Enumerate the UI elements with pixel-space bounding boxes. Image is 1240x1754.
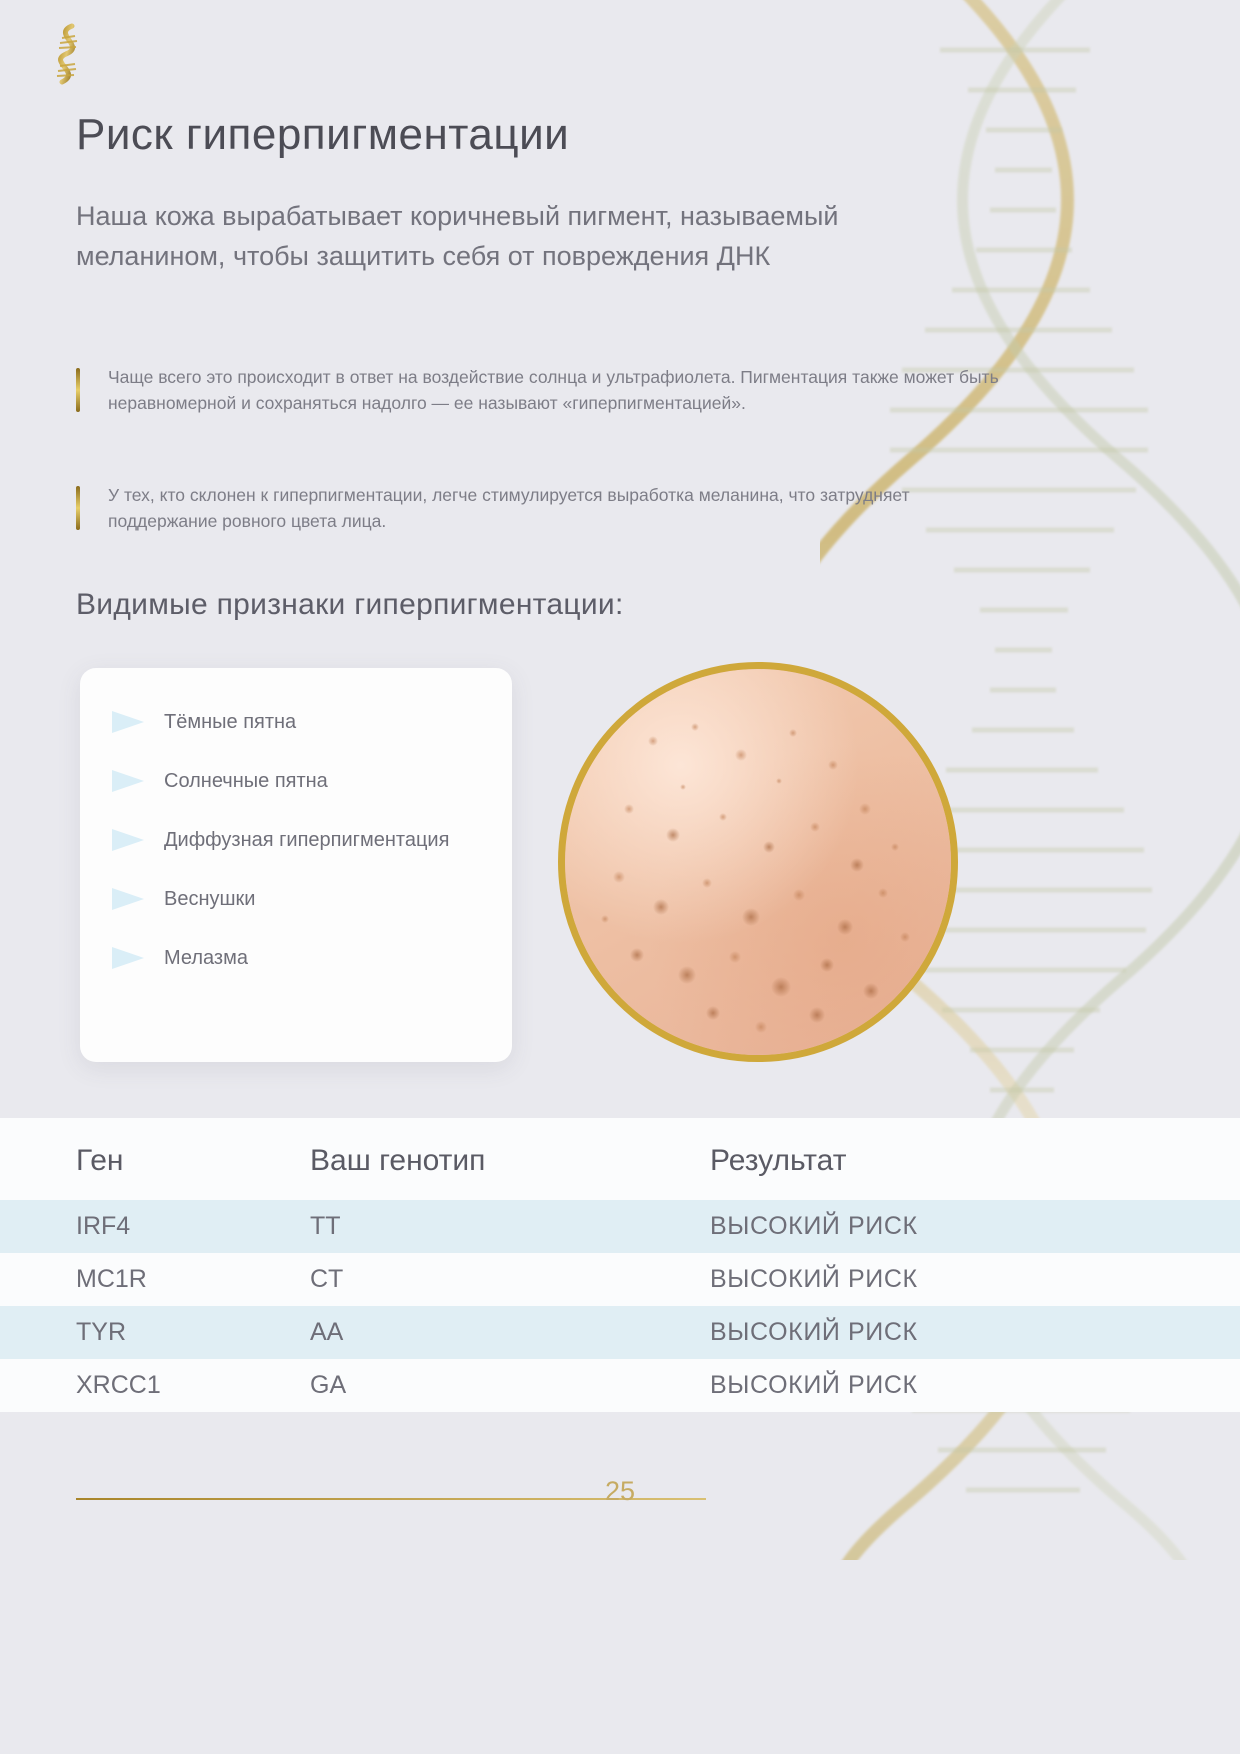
table-row: MC1R CT ВЫСОКИЙ РИСК	[0, 1253, 1240, 1306]
signs-subtitle: Видимые признаки гиперпигментации:	[76, 588, 624, 622]
list-item: Диффузная гиперпигментация	[110, 824, 482, 856]
column-header-genotype: Ваш генотип	[310, 1118, 710, 1200]
list-item: Тёмные пятна	[110, 706, 482, 738]
lead-paragraph: Наша кожа вырабатывает коричневый пигмен…	[76, 196, 956, 276]
page-number: 25	[0, 1476, 1240, 1507]
callout-paragraph-2: У тех, кто склонен к гиперпигментации, л…	[76, 482, 1006, 534]
table-row: XRCC1 GA ВЫСОКИЙ РИСК	[0, 1359, 1240, 1412]
play-arrow-icon	[110, 708, 148, 736]
cell-gene: TYR	[0, 1306, 310, 1359]
column-header-result: Результат	[710, 1118, 1240, 1200]
cell-gene: XRCC1	[0, 1359, 310, 1412]
cell-genotype: CT	[310, 1253, 710, 1306]
play-arrow-icon	[110, 885, 148, 913]
visible-signs-card: Тёмные пятна Солнечные пятна Диффузная г…	[80, 668, 512, 1062]
play-arrow-icon	[110, 826, 148, 854]
dna-helix-icon	[42, 22, 96, 88]
cell-genotype: GA	[310, 1359, 710, 1412]
cell-genotype: AA	[310, 1306, 710, 1359]
list-item-label: Веснушки	[164, 883, 255, 915]
skin-hyperpigmentation-photo	[558, 662, 958, 1062]
cell-genotype: TT	[310, 1200, 710, 1253]
table-row: IRF4 TT ВЫСОКИЙ РИСК	[0, 1200, 1240, 1253]
report-page: Риск гиперпигментации Наша кожа вырабаты…	[0, 0, 1240, 1754]
play-arrow-icon	[110, 944, 148, 972]
list-item-label: Солнечные пятна	[164, 765, 328, 797]
column-header-gene: Ген	[0, 1118, 310, 1200]
table-header-row: Ген Ваш генотип Результат	[0, 1118, 1240, 1200]
status-badge: ВЫСОКИЙ РИСК	[710, 1200, 1240, 1253]
freckle-pattern	[565, 669, 951, 1055]
genetics-table-container: Ген Ваш генотип Результат IRF4 TT ВЫСОКИ…	[0, 1118, 1240, 1412]
list-item: Мелазма	[110, 942, 482, 974]
status-badge: ВЫСОКИЙ РИСК	[710, 1306, 1240, 1359]
cell-gene: IRF4	[0, 1200, 310, 1253]
genetics-table: Ген Ваш генотип Результат IRF4 TT ВЫСОКИ…	[0, 1118, 1240, 1412]
list-item-label: Мелазма	[164, 942, 248, 974]
cell-gene: MC1R	[0, 1253, 310, 1306]
table-row: TYR AA ВЫСОКИЙ РИСК	[0, 1306, 1240, 1359]
list-item: Веснушки	[110, 883, 482, 915]
page-title: Риск гиперпигментации	[76, 110, 569, 160]
list-item-label: Тёмные пятна	[164, 706, 296, 738]
list-item-label: Диффузная гиперпигментация	[164, 824, 449, 856]
status-badge: ВЫСОКИЙ РИСК	[710, 1253, 1240, 1306]
status-badge: ВЫСОКИЙ РИСК	[710, 1359, 1240, 1412]
list-item: Солнечные пятна	[110, 765, 482, 797]
play-arrow-icon	[110, 767, 148, 795]
callout-paragraph-1: Чаще всего это происходит в ответ на воз…	[76, 364, 1006, 416]
